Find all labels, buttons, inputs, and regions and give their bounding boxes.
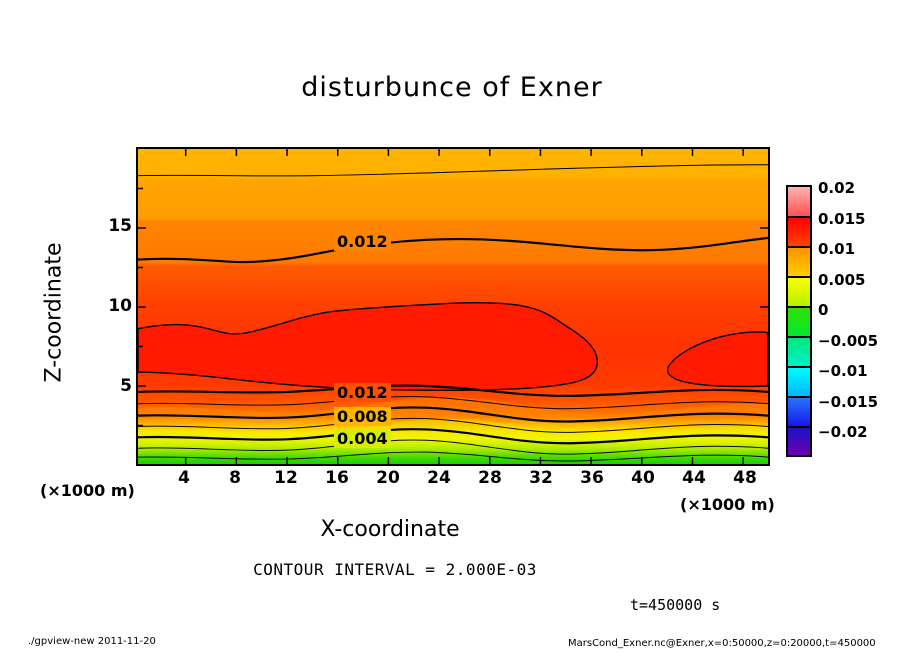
x-axis-label: X-coordinate: [0, 517, 780, 542]
x-axis-unit: (×1000 m): [680, 495, 775, 514]
contour-interval-note: CONTOUR INTERVAL = 2.000E-03: [0, 560, 790, 579]
colorbar: [786, 185, 812, 457]
contour-label-0008: 0.008: [334, 407, 391, 426]
contour-plot-area: 0.012 0.012 0.008 0.004: [136, 147, 770, 466]
colorbar-label: 0.005: [818, 271, 865, 289]
colorbar-label: −0.01: [818, 362, 868, 380]
xtick-label: 40: [623, 468, 663, 488]
xtick-label: 24: [419, 468, 459, 488]
footer-dataset: MarsCond_Exner.nc@Exner,x=0:50000,z=0:20…: [568, 638, 876, 649]
z-axis-unit: (×1000 m): [40, 481, 135, 500]
colorbar-label: 0.01: [818, 240, 855, 258]
colorbar-label: −0.005: [818, 332, 878, 350]
xtick-label: 28: [470, 468, 510, 488]
xtick-label: 20: [368, 468, 408, 488]
xtick-label: 48: [725, 468, 765, 488]
xtick-label: 12: [266, 468, 306, 488]
xtick-label: 8: [215, 468, 255, 488]
colorbar-scale: [788, 187, 810, 455]
page-title: disturbunce of Exner: [0, 72, 904, 103]
ytick-label: 15: [96, 216, 132, 236]
time-label: t=450000 s: [630, 596, 720, 614]
xtick-label: 44: [674, 468, 714, 488]
ytick-label: 5: [96, 376, 132, 396]
ytick-label: 10: [96, 296, 132, 316]
colorbar-label: 0.02: [818, 179, 855, 197]
contour-label-0012-upper: 0.012: [334, 232, 391, 251]
xtick-label: 32: [521, 468, 561, 488]
xtick-label: 36: [572, 468, 612, 488]
y-axis-label: Z-coordinate: [42, 213, 67, 413]
colorbar-label: −0.02: [818, 423, 868, 441]
contour-label-0012-lower: 0.012: [334, 383, 391, 402]
xtick-label: 4: [164, 468, 204, 488]
footer-command: ./gpview-new 2011-11-20: [28, 636, 156, 647]
contour-field: [138, 149, 768, 464]
colorbar-label: −0.015: [818, 393, 878, 411]
colorbar-label: 0: [818, 301, 828, 319]
xtick-label: 16: [317, 468, 357, 488]
contour-label-0004: 0.004: [334, 429, 391, 448]
colorbar-label: 0.015: [818, 210, 865, 228]
